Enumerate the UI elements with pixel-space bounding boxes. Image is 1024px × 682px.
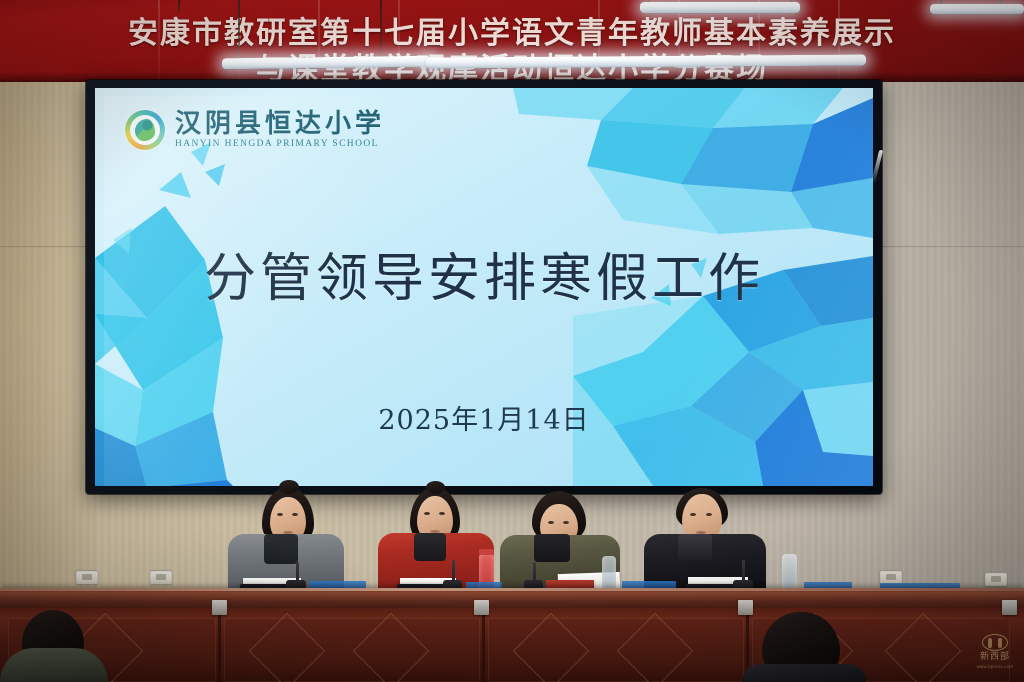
school-logo: 汉阴县恒达小学 HANYIN HENGDA PRIMARY SCHOOL (125, 110, 385, 150)
table-panel (224, 618, 480, 682)
table-panel-seam (482, 608, 485, 682)
event-banner: 安康市教研室第十七届小学语文青年教师基本素养展示 与课堂教学观摩活动恒达小学分赛… (0, 0, 1024, 82)
wall-socket (985, 572, 1007, 586)
light-wire (238, 0, 240, 60)
circular-seal-icon (982, 634, 1008, 651)
watermark: 新西部 www.itpress.com (972, 634, 1018, 678)
table-bracket (474, 600, 489, 615)
bottle-cap (479, 549, 494, 555)
meeting-room-photo: 安康市教研室第十七届小学语文青年教师基本素养展示 与课堂教学观摩活动恒达小学分赛… (0, 0, 1024, 682)
table-panel (488, 618, 744, 682)
table-bracket (738, 600, 753, 615)
wall-left-shadow (0, 60, 96, 620)
light-wire (380, 0, 382, 60)
school-name-cn: 汉阴县恒达小学 (175, 111, 385, 137)
watermark-url: www.itpress.com (972, 664, 1018, 669)
wall-right-shadow (874, 60, 1024, 620)
watermark-text: 新西部 (972, 653, 1018, 662)
slide-title: 分管领导安排寒假工作 (95, 236, 873, 311)
ceiling-light-fixture (640, 2, 800, 13)
conference-table-surface (0, 588, 1024, 610)
water-bottle (782, 554, 797, 591)
school-name-en: HANYIN HENGDA PRIMARY SCHOOL (175, 140, 385, 150)
projection-screen: 汉阴县恒达小学 HANYIN HENGDA PRIMARY SCHOOL 分管领… (86, 80, 882, 494)
table-edge-highlight (0, 588, 1024, 591)
presentation-slide: 汉阴县恒达小学 HANYIN HENGDA PRIMARY SCHOOL 分管领… (95, 88, 873, 486)
ceiling-light-fixture (930, 4, 1024, 14)
wall-socket (76, 570, 98, 584)
wall-socket (880, 570, 902, 584)
table-panel-seam (218, 608, 221, 682)
water-glass (602, 556, 616, 591)
table-bracket (1002, 600, 1017, 615)
wall-socket (150, 570, 172, 584)
slide-date: 2025年1月14日 (95, 398, 873, 437)
light-wire (178, 0, 180, 12)
school-emblem-icon (125, 110, 165, 150)
table-bracket (212, 600, 227, 615)
